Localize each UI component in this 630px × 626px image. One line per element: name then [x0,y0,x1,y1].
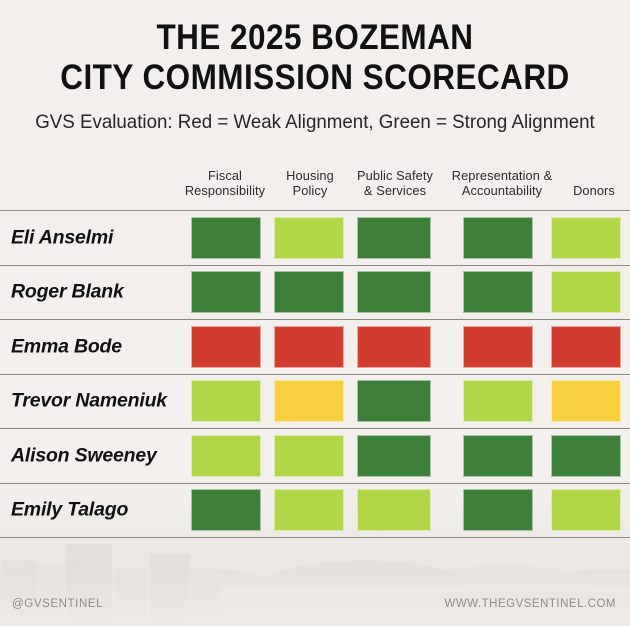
commissioner-name: Trevor Nameniuk [11,390,167,413]
score-cell [191,380,261,422]
score-cell [274,271,344,313]
score-cell [357,380,431,422]
column-header-4: Representation &Accountability [437,168,567,198]
table-row: Alison Sweeney [0,428,630,483]
score-cell [191,435,261,477]
commissioner-name: Alison Sweeney [11,444,157,467]
photo-haze-overlay [0,568,630,626]
score-cell [274,435,344,477]
score-cell [274,489,344,531]
table-row: Eli Anselmi [0,210,630,265]
score-cell [463,271,533,313]
page-title-line-1: THE 2025 BOZEMAN [32,18,599,58]
table-row: Roger Blank [0,265,630,320]
commissioner-name: Emily Talago [11,499,128,522]
score-cell [357,489,431,531]
score-cell [551,217,621,259]
score-cell [191,217,261,259]
table-row: Emily Talago [0,483,630,539]
column-header-1: FiscalResponsibility [177,168,273,198]
column-header-5: Donors [563,183,625,198]
column-header-line-2: Policy [272,183,348,198]
score-cell [463,217,533,259]
column-header-line-1: Public Safety [347,168,443,183]
table-row: Emma Bode [0,319,630,374]
score-cell [551,326,621,368]
score-cell [274,326,344,368]
score-cell [191,489,261,531]
footer: @GVSENTINEL WWW.THEGVSENTINEL.COM [0,598,630,614]
commissioner-name: Eli Anselmi [11,226,113,249]
score-cell [463,380,533,422]
commissioner-name: Roger Blank [11,281,124,304]
column-header-line-2: & Services [347,183,443,198]
score-cell [463,326,533,368]
score-cell [357,217,431,259]
social-handle: @GVSENTINEL [12,598,103,610]
score-cell [551,380,621,422]
score-cell [551,271,621,313]
score-cell [274,380,344,422]
score-cell [551,489,621,531]
title-block: THE 2025 BOZEMAN CITY COMMISSION SCORECA… [0,18,630,133]
score-cell [463,489,533,531]
score-cell [357,326,431,368]
scorecard-infographic: THE 2025 BOZEMAN CITY COMMISSION SCORECA… [0,0,630,626]
column-header-line-1: Donors [563,183,625,198]
score-cell [463,435,533,477]
score-cell [191,326,261,368]
table-row: Trevor Nameniuk [0,374,630,429]
score-cell [274,217,344,259]
column-header-3: Public Safety& Services [347,168,443,198]
website-url: WWW.THEGVSENTINEL.COM [445,598,617,610]
score-cell [191,271,261,313]
column-header-line-2: Responsibility [177,183,273,198]
scorecard-table: Eli AnselmiRoger BlankEmma BodeTrevor Na… [0,210,630,538]
column-header-line-1: Housing [272,168,348,183]
commissioner-name: Emma Bode [11,335,122,358]
page-title-line-2: CITY COMMISSION SCORECARD [32,58,599,98]
column-header-2: HousingPolicy [272,168,348,198]
column-header-line-2: Accountability [437,183,567,198]
legend-subtitle: GVS Evaluation: Red = Weak Alignment, Gr… [13,111,618,133]
score-cell [357,271,431,313]
column-header-line-1: Fiscal [177,168,273,183]
score-cell [551,435,621,477]
column-header-row: FiscalResponsibilityHousingPolicyPublic … [0,168,630,210]
column-header-line-1: Representation & [437,168,567,183]
score-cell [357,435,431,477]
